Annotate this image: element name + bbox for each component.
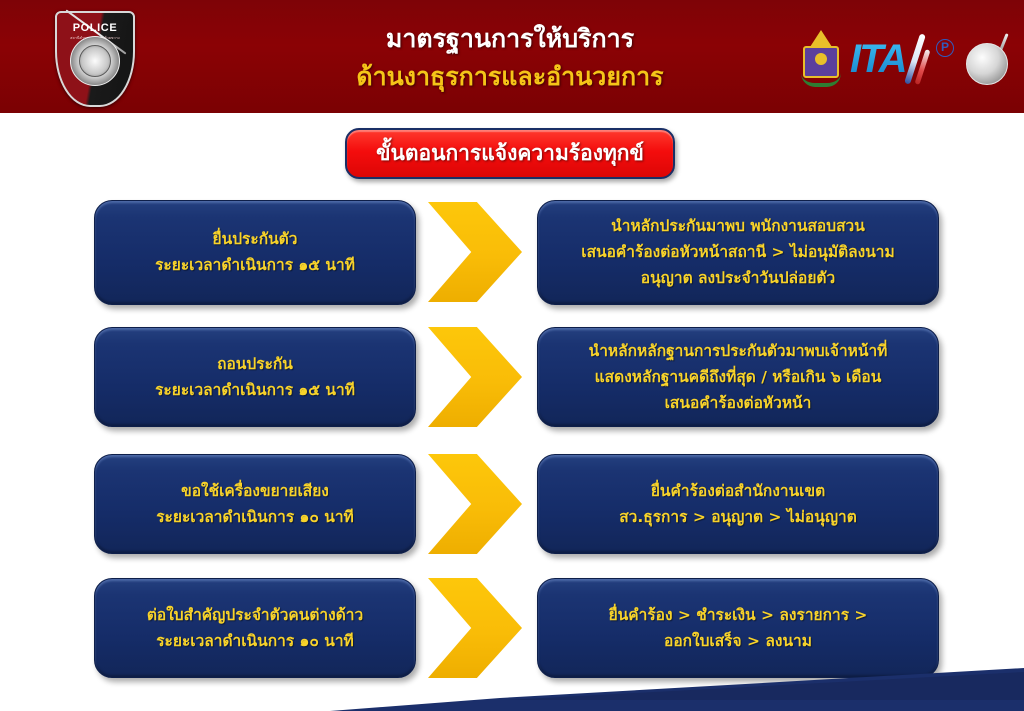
flow-node-line: ขอใช้เครื่องขยายเสียง — [181, 478, 329, 504]
police-shield-icon: POLICE สถานีตำรวจนครบาลห้วยขวาง — [47, 7, 144, 111]
section-title-label: ขั้นตอนการแจ้งความร้องทุกข์ — [376, 137, 644, 170]
flow-node-line: นำหลักหลักฐานการประกันตัวมาพบเจ้าหน้าที่ — [589, 338, 888, 364]
flow-node-right[interactable]: นำหลักหลักฐานการประกันตัวมาพบเจ้าหน้าที่… — [537, 327, 939, 427]
flow-row: ถอนประกัน ระยะเวลาดำเนินการ ๑๕ นาที นำหล… — [0, 325, 1024, 429]
flow-node-left[interactable]: ถอนประกัน ระยะเวลาดำเนินการ ๑๕ นาที — [94, 327, 416, 427]
flow-node-line: ต่อใบสำคัญประจำตัวคนต่างด้าว — [147, 602, 363, 628]
chevron-right-icon — [428, 327, 522, 427]
flow-node-line: เสนอคำร้องต่อหัวหน้า — [665, 390, 812, 416]
flow-node-line: ระยะเวลาดำเนินการ ๑๕ นาที — [155, 377, 355, 403]
flow-node-line: แสดงหลักฐานคดีถึงที่สุด / หรือเกิน ๖ เดื… — [595, 364, 882, 390]
ita-logo-label: ITA — [850, 37, 905, 82]
chevron-right-icon — [428, 454, 522, 554]
flow-node-right[interactable]: ยื่นคำร้องต่อสำนักงานเขต สว.ธุรการ > อนุ… — [537, 454, 939, 554]
slide-body: ขั้นตอนการแจ้งความร้องทุกข์ ยื่นประกันตั… — [0, 113, 1024, 711]
header-title-group: มาตรฐานการให้บริการ ด้านงาธุรการและอำนวย… — [230, 22, 790, 94]
flow-row: ต่อใบสำคัญประจำตัวคนต่างด้าว ระยะเวลาดำเ… — [0, 574, 1024, 682]
flow-row: ขอใช้เครื่องขยายเสียง ระยะเวลาดำเนินการ … — [0, 450, 1024, 558]
flow-node-line: ออกใบเสร็จ > ลงนาม — [664, 628, 812, 654]
flow-node-line: ยื่นประกันตัว — [213, 226, 298, 252]
flow-node-line: สว.ธุรการ > อนุญาต > ไม่อนุญาต — [619, 504, 857, 530]
flow-node-right[interactable]: ยื่นคำร้อง > ชำระเงิน > ลงรายการ > ออกใบ… — [537, 578, 939, 678]
silver-seal-icon — [964, 33, 1010, 85]
flow-node-line: นำหลักประกันมาพบ พนักงานสอบสวน — [611, 213, 865, 239]
flow-node-left[interactable]: ยื่นประกันตัว ระยะเวลาดำเนินการ ๑๕ นาที — [94, 200, 416, 305]
flow-node-line: เสนอคำร้องต่อหัวหน้าสถานี > ไม่อนุมัติลง… — [581, 239, 894, 265]
flow-node-left[interactable]: ขอใช้เครื่องขยายเสียง ระยะเวลาดำเนินการ … — [94, 454, 416, 554]
page-title-line-2: ด้านงาธุรการและอำนวยการ — [230, 60, 790, 94]
flow-node-line: ระยะเวลาดำเนินการ ๑๐ นาที — [156, 504, 354, 530]
flow-node-line: ยื่นคำร้อง > ชำระเงิน > ลงรายการ > — [609, 602, 868, 628]
ita-superscript-badge: P — [936, 39, 954, 57]
flow-node-line: อนุญาต ลงประจำวันปล่อยตัว — [641, 265, 835, 291]
police-seal-icon — [70, 36, 120, 86]
chevron-right-icon — [428, 202, 522, 302]
flow-node-line: ถอนประกัน — [217, 351, 293, 377]
police-badge-label: POLICE — [55, 22, 135, 34]
header-logo-group: ITA P — [800, 28, 1010, 90]
section-title-pill: ขั้นตอนการแจ้งความร้องทุกข์ — [345, 128, 675, 179]
ita-logo-icon: ITA P — [850, 31, 956, 87]
page-title-line-1: มาตรฐานการให้บริการ — [230, 22, 790, 56]
royal-thai-emblem-icon — [800, 30, 842, 88]
flow-node-left[interactable]: ต่อใบสำคัญประจำตัวคนต่างด้าว ระยะเวลาดำเ… — [94, 578, 416, 678]
flow-node-line: ยื่นคำร้องต่อสำนักงานเขต — [651, 478, 825, 504]
flow-node-right[interactable]: นำหลักประกันมาพบ พนักงานสอบสวน เสนอคำร้อ… — [537, 200, 939, 305]
flow-node-line: ระยะเวลาดำเนินการ ๑๕ นาที — [155, 252, 355, 278]
flow-node-line: ระยะเวลาดำเนินการ ๑๐ นาที — [156, 628, 354, 654]
chevron-right-icon — [428, 578, 522, 678]
header-banner: POLICE สถานีตำรวจนครบาลห้วยขวาง มาตรฐานก… — [0, 0, 1024, 113]
flow-row: ยื่นประกันตัว ระยะเวลาดำเนินการ ๑๕ นาที … — [0, 198, 1024, 306]
